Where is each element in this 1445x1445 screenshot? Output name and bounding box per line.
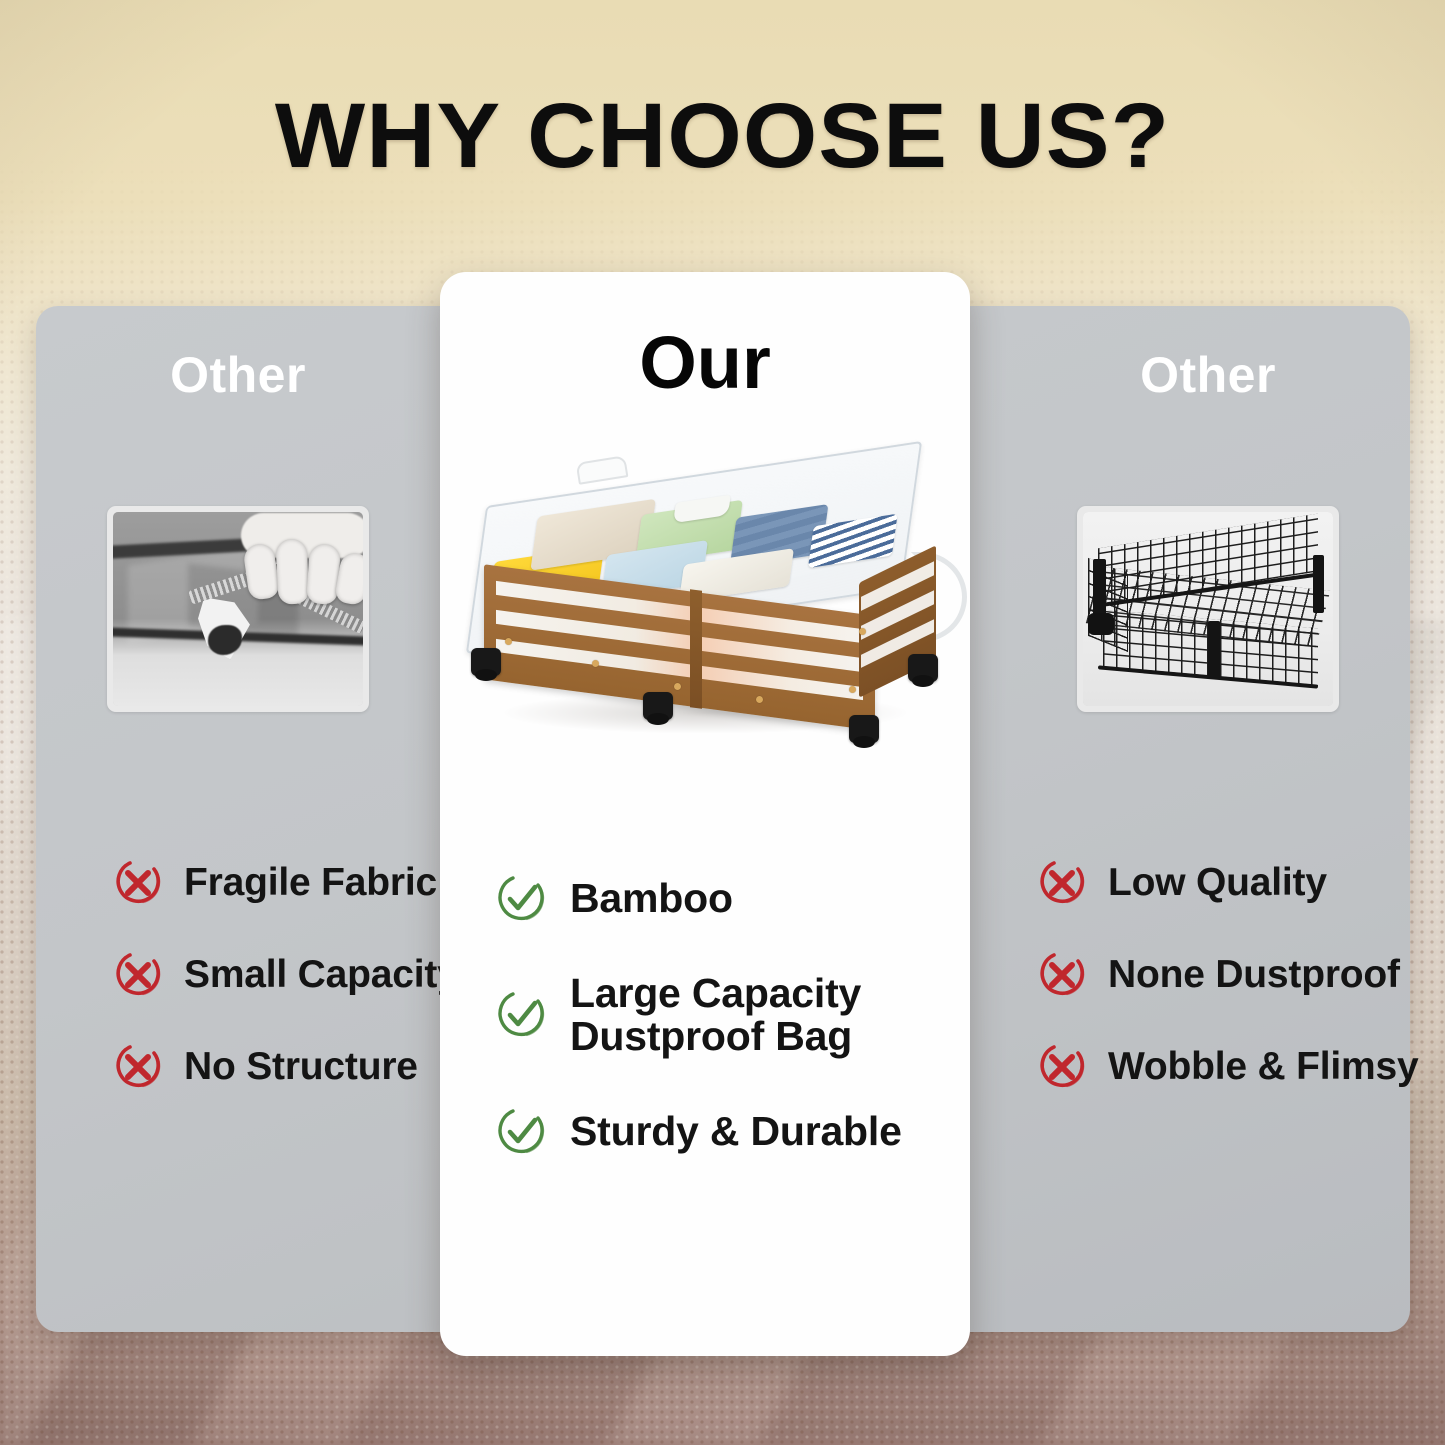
caster-wheel	[908, 654, 938, 682]
red-cross-icon	[1034, 947, 1090, 1003]
mesh-post	[1208, 621, 1220, 679]
red-cross-icon	[1034, 855, 1090, 911]
wire-mesh-basket-photo	[1083, 512, 1333, 706]
page-title: WHY CHOOSE US?	[0, 84, 1445, 189]
bamboo-center-divider	[690, 589, 702, 709]
list-item: Bamboo	[488, 862, 946, 936]
list-item: Sturdy & Durable	[488, 1095, 946, 1169]
caster-wheel	[849, 715, 879, 743]
list-item: No Structure	[106, 1030, 440, 1104]
list-item: Large Capacity Dustproof Bag	[488, 972, 946, 1059]
finger	[275, 538, 309, 604]
panel-our-center: Our	[440, 272, 970, 1356]
caster-wheel	[471, 648, 501, 676]
screw	[505, 638, 512, 645]
panel-center-bullet-list: Bamboo Large Capacity Dustproof Bag	[488, 862, 946, 1205]
caster-wheel	[643, 692, 673, 720]
panel-center-title: Our	[440, 320, 970, 405]
infographic-canvas: WHY CHOOSE US? Other	[0, 0, 1445, 1445]
panel-left-photo-frame	[107, 506, 369, 712]
mesh-post	[1093, 559, 1106, 621]
torn-fabric-bag-photo	[113, 512, 363, 706]
panel-right-bullet-list: Low Quality None Dustproof	[1006, 846, 1410, 1122]
green-check-icon	[492, 1103, 550, 1161]
red-cross-icon	[110, 947, 166, 1003]
list-item-label: No Structure	[184, 1046, 418, 1087]
list-item-label: Bamboo	[570, 877, 733, 920]
list-item-label: Sturdy & Durable	[570, 1110, 902, 1153]
mesh-post	[1313, 555, 1324, 613]
list-item-label: Fragile Fabric	[184, 862, 437, 903]
bamboo-storage-box-photo	[448, 462, 962, 782]
list-item: Small Capacity	[106, 938, 440, 1012]
list-item-label: Low Quality	[1108, 862, 1327, 903]
list-item: Low Quality	[1030, 846, 1410, 920]
panel-right-title: Other	[1006, 346, 1410, 404]
list-item: None Dustproof	[1030, 938, 1410, 1012]
list-item-label: Small Capacity	[184, 954, 459, 995]
mesh-photo-scene	[1083, 512, 1333, 706]
list-item-label: Large Capacity Dustproof Bag	[570, 972, 861, 1059]
red-cross-icon	[110, 855, 166, 911]
list-item: Wobble & Flimsy	[1030, 1030, 1410, 1104]
panel-left-title: Other	[36, 346, 440, 404]
red-cross-icon	[110, 1039, 166, 1095]
panel-left-bullet-list: Fragile Fabric Small Capacity	[64, 846, 440, 1122]
fabric-hole	[208, 625, 242, 655]
panel-right-photo-frame	[1077, 506, 1339, 712]
panel-other-right: Other	[1006, 306, 1410, 1332]
screw	[674, 683, 681, 690]
green-check-icon	[492, 870, 550, 928]
panel-other-left: Other	[36, 306, 440, 1332]
list-item: Fragile Fabric	[106, 846, 440, 920]
screw	[756, 696, 763, 703]
mesh-caster	[1088, 613, 1114, 635]
hand	[238, 520, 363, 640]
list-item-label: None Dustproof	[1108, 954, 1400, 995]
green-check-icon	[492, 986, 550, 1044]
list-item-label: Wobble & Flimsy	[1108, 1046, 1419, 1087]
fabric-photo-scene	[113, 512, 363, 706]
screw	[849, 686, 856, 693]
red-cross-icon	[1034, 1039, 1090, 1095]
bag-zipper-tab	[575, 455, 628, 485]
